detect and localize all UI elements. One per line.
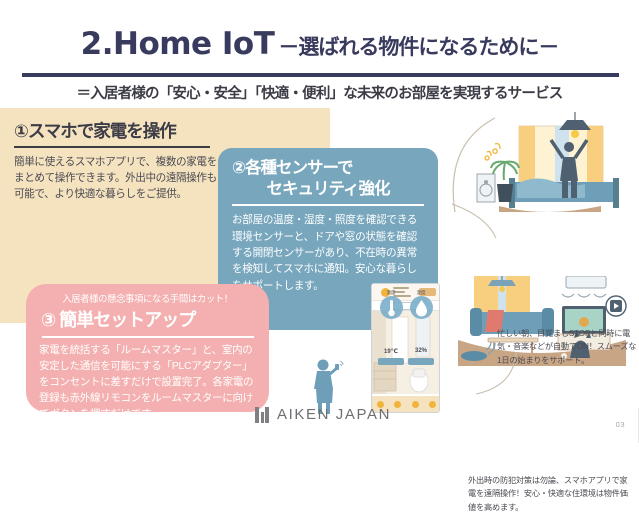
section-1-title: ①スマホで家電を操作 [14,118,224,146]
page-number: 03 [616,420,625,429]
humidity-widget[interactable] [410,296,433,319]
section-2-title: ②各種センサーで セキュリティ強化 [232,158,424,199]
bottom-caption-text: 外出時の防犯対策は勿論、スマホアプリで家電を遠隔操作！安心・快適な住環境は物件価… [468,474,628,514]
section-3-title: ③ 簡単セットアップ [39,306,256,332]
company-name: AIKEN JAPAN [277,406,391,423]
section-2-title-line1: ②各種センサーで [232,159,352,177]
section-1-body: 簡単に使えるスマホアプリで、複数の家電をまとめて操作できます。外出中の遠隔操作も… [14,154,224,202]
section-2-divider [232,204,424,206]
title-divider [22,73,619,77]
company-logo: AIKEN JAPAN [255,406,391,423]
section-3-divider [42,336,254,338]
nav-icon-2[interactable] [394,401,401,408]
temperature-value: 19℃ [378,348,404,355]
section-2-title-line2: セキュリティ強化 [232,179,424,200]
humidity-value: 32% [408,348,434,354]
thermometer-icon [380,296,403,319]
section-1-smartphone-control: ①スマホで家電を操作 簡単に使えるスマホアプリで、複数の家電をまとめて操作できま… [14,118,224,202]
nav-icon-4[interactable] [429,401,436,408]
page-title-subtitle: －選ばれる物件になるために－ [278,31,558,61]
page-title-main: 2.Home IoT [81,26,275,62]
section-3-kicker: 入居者様の懸念事項になる手間はカット！ [39,291,256,305]
humidity-status-chip [408,358,434,365]
section-3-body: 家電を統括する「ルームマスター」と、室内の安定した通信を可能にする「PLCアダプ… [39,343,256,423]
temperature-widget[interactable] [380,296,403,319]
top-caption-text: 忙しい朝、目覚ましSTOPと同時に電気・音楽などが自動でON！スムーズな1日の始… [497,327,637,367]
temperature-label: 温度 [378,290,404,296]
page-title: 2.Home IoT －選ばれる物件になるために－ [0,26,639,62]
slide-body: ①スマホで家電を操作 簡単に使えるスマホアプリで、複数の家電をまとめて操作できま… [0,108,639,451]
humidity-label: 湿度 [408,290,434,296]
temperature-status-chip [378,358,404,365]
section-3-easy-setup: 入居者様の懸念事項になる手間はカット！ ③ 簡単セットアップ 家電を統括する「ル… [26,284,269,412]
smartphone-app-mockup[interactable]: 温度 湿度 19℃ 32% [371,283,440,413]
bedroom-illustration [447,112,635,216]
water-droplet-icon [410,296,433,319]
slide-header: 2.Home IoT －選ばれる物件になるために－ ＝入居者様の「安心・安全」「… [0,0,639,108]
header-lead-text: ＝入居者様の「安心・安全」「快適・便利」な未来のお部屋を実現するサービス [0,82,639,103]
building-logo-icon [255,407,269,423]
nav-icon-3[interactable] [412,401,419,408]
section-2-body: お部屋の温度・湿度・照度を確認できる環境センサーと、ドアや窓の状態を確認する開閉… [232,212,424,294]
section-1-divider [14,146,210,148]
